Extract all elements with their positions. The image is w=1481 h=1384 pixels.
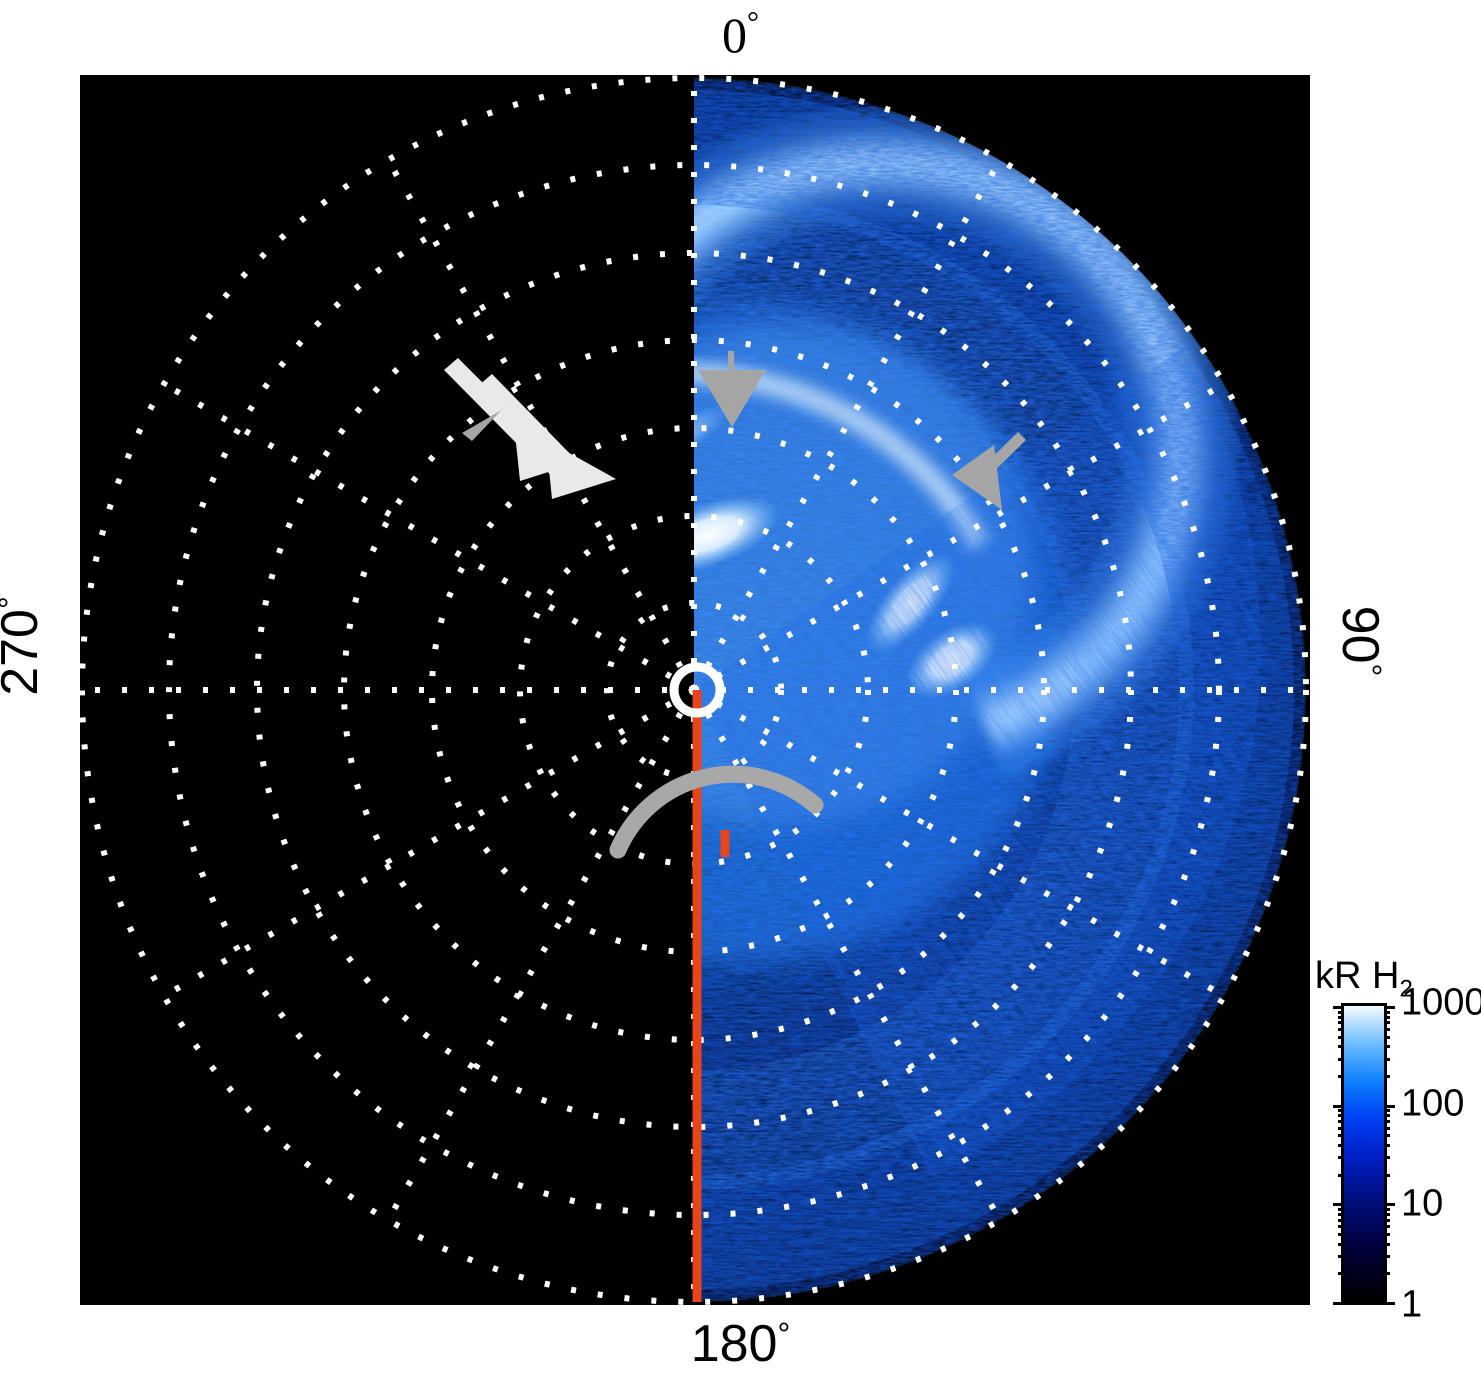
colorbar-minor-tick xyxy=(1338,1127,1344,1130)
colorbar-tick-label: 1 xyxy=(1401,1284,1422,1327)
figure-root: 0° 180° 270° 90° kR H2 1000100101 xyxy=(0,0,1481,1384)
colorbar-minor-tick xyxy=(1384,1208,1390,1211)
colorbar-minor-tick xyxy=(1338,1114,1344,1117)
colorbar-major-tick xyxy=(1333,1302,1344,1305)
colorbar-minor-tick xyxy=(1338,1134,1344,1137)
colorbar-minor-tick xyxy=(1338,1011,1344,1014)
colorbar-minor-tick xyxy=(1338,1213,1344,1216)
colorbar-minor-tick xyxy=(1338,1243,1344,1246)
colorbar-minor-tick xyxy=(1384,1213,1390,1216)
colorbar-minor-tick xyxy=(1384,1016,1390,1019)
polar-plot-svg xyxy=(80,75,1310,1305)
colorbar-minor-tick xyxy=(1384,1114,1390,1117)
axis-label-0: 0° xyxy=(0,8,1481,60)
colorbar: kR H2 1000100101 xyxy=(1315,955,1481,1335)
colorbar-major-tick xyxy=(1384,1105,1395,1108)
colorbar-minor-tick xyxy=(1384,1011,1390,1014)
colorbar-minor-tick xyxy=(1338,1016,1344,1019)
colorbar-minor-tick xyxy=(1384,1174,1390,1177)
colorbar-minor-tick xyxy=(1384,1156,1390,1159)
colorbar-minor-tick xyxy=(1338,1233,1344,1236)
colorbar-minor-tick xyxy=(1338,1109,1344,1112)
colorbar-minor-tick xyxy=(1384,1272,1390,1275)
colorbar-minor-tick xyxy=(1338,1174,1344,1177)
colorbar-minor-tick xyxy=(1338,1036,1344,1039)
colorbar-gradient xyxy=(1344,1006,1384,1302)
colorbar-minor-tick xyxy=(1384,1144,1390,1147)
colorbar-major-tick xyxy=(1384,1006,1395,1009)
colorbar-major-tick xyxy=(1333,1203,1344,1206)
colorbar-minor-tick xyxy=(1384,1127,1390,1130)
colorbar-minor-tick xyxy=(1384,1134,1390,1137)
colorbar-tick-label: 1000 xyxy=(1401,982,1481,1025)
colorbar-minor-tick xyxy=(1384,1243,1390,1246)
colorbar-major-tick xyxy=(1384,1302,1395,1305)
colorbar-minor-tick xyxy=(1338,1028,1344,1031)
colorbar-tick-label: 10 xyxy=(1401,1183,1443,1226)
colorbar-minor-tick xyxy=(1384,1045,1390,1048)
colorbar-minor-tick xyxy=(1384,1233,1390,1236)
colorbar-minor-tick xyxy=(1338,1075,1344,1078)
colorbar-minor-tick xyxy=(1338,1208,1344,1211)
axis-label-180: 180° xyxy=(0,1318,1481,1370)
colorbar-major-tick xyxy=(1333,1105,1344,1108)
colorbar-minor-tick xyxy=(1384,1021,1390,1024)
colorbar-minor-tick xyxy=(1384,1036,1390,1039)
colorbar-minor-tick xyxy=(1338,1144,1344,1147)
colorbar-minor-tick xyxy=(1384,1255,1390,1258)
colorbar-major-tick xyxy=(1384,1203,1395,1206)
colorbar-minor-tick xyxy=(1384,1120,1390,1123)
colorbar-minor-tick xyxy=(1338,1225,1344,1228)
colorbar-minor-tick xyxy=(1338,1272,1344,1275)
colorbar-minor-tick xyxy=(1384,1225,1390,1228)
colorbar-minor-tick xyxy=(1338,1255,1344,1258)
colorbar-minor-tick xyxy=(1384,1109,1390,1112)
colorbar-tick-label: 100 xyxy=(1401,1082,1464,1125)
colorbar-box xyxy=(1341,1003,1387,1305)
colorbar-title: kR H2 xyxy=(1315,955,1413,1004)
colorbar-minor-tick xyxy=(1338,1058,1344,1061)
axis-label-90: 90° xyxy=(1334,561,1386,721)
colorbar-major-tick xyxy=(1333,1006,1344,1009)
polar-plot-area xyxy=(80,75,1310,1305)
colorbar-minor-tick xyxy=(1338,1021,1344,1024)
colorbar-minor-tick xyxy=(1384,1075,1390,1078)
colorbar-minor-tick xyxy=(1338,1156,1344,1159)
colorbar-minor-tick xyxy=(1338,1219,1344,1222)
axis-label-270: 270° xyxy=(0,566,46,726)
colorbar-minor-tick xyxy=(1338,1045,1344,1048)
colorbar-minor-tick xyxy=(1384,1058,1390,1061)
colorbar-minor-tick xyxy=(1338,1120,1344,1123)
colorbar-minor-tick xyxy=(1384,1219,1390,1222)
colorbar-minor-tick xyxy=(1384,1028,1390,1031)
